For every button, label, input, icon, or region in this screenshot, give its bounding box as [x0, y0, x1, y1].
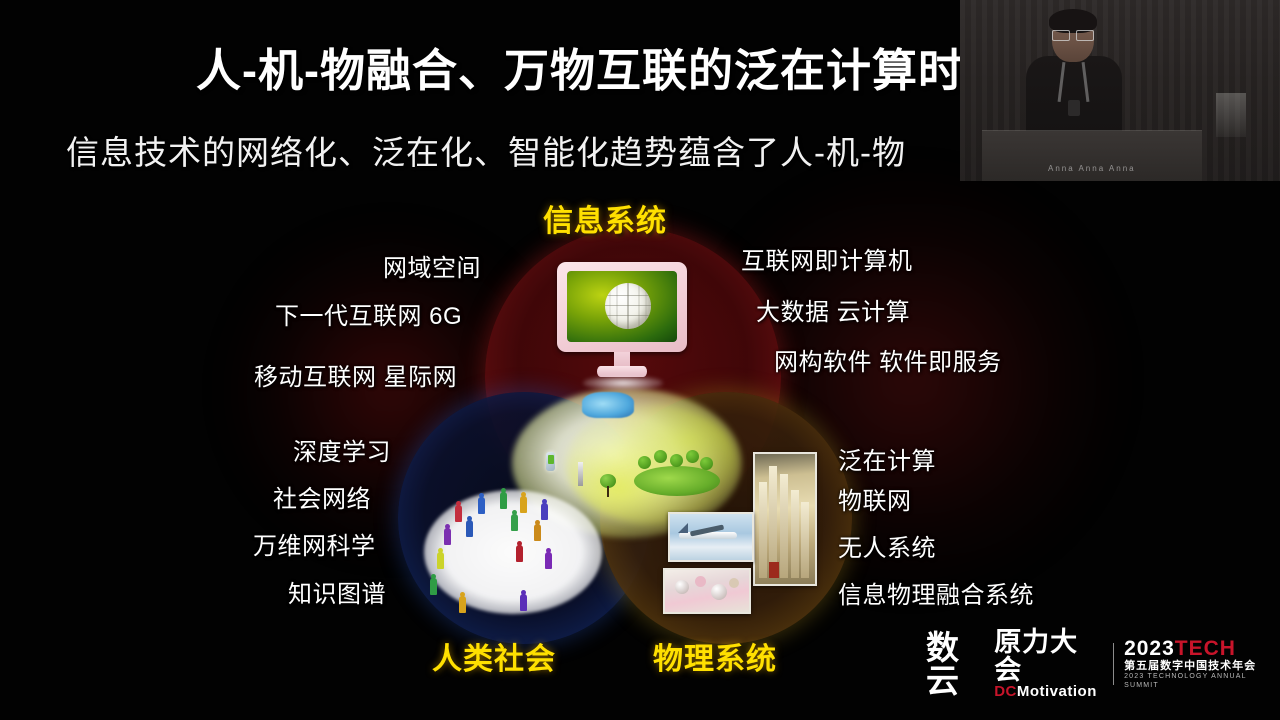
logo-summit-block: 2023TECH 第五届数字中国技术年会 2023 TECHNOLOGY ANN… [1124, 638, 1280, 690]
person-figure [520, 594, 527, 611]
person-figure [459, 596, 466, 613]
venn-label-physical-system: 物理系统 [653, 634, 777, 678]
monitor-bezel [557, 262, 687, 352]
podium-side-panel [1216, 93, 1246, 137]
keyword-bottom-left-2: 社会网络 [273, 479, 371, 514]
logo-subtitle-en: 2023 TECHNOLOGY ANNUAL SUMMIT [1124, 673, 1280, 690]
person-figure [516, 545, 523, 562]
keyword-top-left-2: 下一代互联网 6G [275, 296, 462, 331]
logo-year-line: 2023TECH [1124, 638, 1280, 660]
keyword-top-right-3: 网构软件 软件即服务 [774, 342, 1002, 377]
logo-subtitle-cn: 第五届数字中国技术年会 [1124, 660, 1280, 673]
logo-brand-cn: 数云 [926, 631, 990, 697]
keyword-top-left-1: 网域空间 [383, 248, 481, 283]
logo-brand-en: DCMotivation [994, 684, 1103, 700]
computer-monitor-icon [557, 262, 687, 382]
skyscraper-photo [753, 452, 817, 586]
tree-icon [600, 474, 616, 498]
podium [982, 131, 1202, 181]
person-figure [455, 505, 462, 522]
globe-icon [605, 283, 651, 329]
glasses-icon [1052, 30, 1094, 39]
logo-brand-cn2: 原力大会 [994, 628, 1103, 685]
logo-year: 2023 [1124, 637, 1175, 660]
airplane-photo [668, 512, 754, 562]
blue-city-illustration [582, 392, 634, 418]
venn-label-information-system: 信息系统 [543, 196, 667, 240]
signal-post-icon [578, 462, 583, 486]
venn-label-human-society: 人类社会 [432, 634, 556, 678]
venn-circle-information-system [485, 228, 781, 524]
person-figure [541, 503, 548, 520]
person-figure [500, 492, 507, 509]
monitor-screen [567, 271, 677, 342]
keyword-bottom-left-4: 知识图谱 [288, 574, 386, 609]
mobile-phone-icon [546, 452, 555, 471]
slide-subtitle: 信息技术的网络化、泛在化、智能化趋势蕴含了人-机-物 [66, 126, 906, 174]
badge-icon [1068, 100, 1080, 116]
monitor-reflection [583, 376, 663, 390]
logo-brand-stack: 原力大会 DCMotivation [994, 628, 1103, 700]
keyword-top-right-2: 大数据 云计算 [756, 292, 910, 327]
micro-devices-photo [663, 568, 751, 614]
speaker-video-overlay[interactable]: Anna Anna Anna [960, 0, 1280, 181]
venn-overlap-glow [512, 388, 742, 538]
monitor-neck [614, 352, 630, 368]
logo-divider [1113, 643, 1114, 685]
green-landscape-illustration [628, 448, 724, 500]
podium-text: Anna Anna Anna [1048, 164, 1136, 173]
keyword-bottom-right-2: 物联网 [838, 481, 912, 516]
keyword-bottom-left-3: 万维网科学 [253, 526, 376, 561]
monitor-base [597, 366, 647, 377]
person-figure [545, 552, 552, 569]
person-figure [478, 497, 485, 514]
social-network-disc [424, 490, 602, 614]
background-glow-right [700, 170, 1120, 590]
keyword-bottom-right-1: 泛在计算 [838, 441, 936, 476]
person-figure [534, 524, 541, 541]
logo-brand-en-prefix: DC [994, 683, 1017, 700]
person-figure [466, 520, 473, 537]
venn-circle-human-society [398, 392, 650, 644]
person-figure [430, 578, 437, 595]
person-figure [444, 528, 451, 545]
overlap-swirl [566, 404, 738, 524]
person-figure [437, 552, 444, 569]
logo-brand-en-word: Motivation [1017, 683, 1097, 700]
keyword-top-left-3: 移动互联网 星际网 [254, 357, 457, 392]
slide-stage: 人-机-物融合、万物互联的泛在计算时代 信息技术的网络化、泛在化、智能化趋势蕴含… [0, 0, 1280, 720]
keyword-bottom-right-3: 无人系统 [838, 528, 936, 563]
person-figure [520, 496, 527, 513]
slide-title: 人-机-物融合、万物互联的泛在计算时代 [196, 34, 1010, 99]
logo-year-accent: TECH [1175, 637, 1236, 660]
venn-circle-physical-system [600, 392, 852, 644]
keyword-top-right-1: 互联网即计算机 [741, 241, 913, 276]
keyword-bottom-left-1: 深度学习 [293, 432, 391, 467]
conference-logo: 数云 原力大会 DCMotivation 2023TECH 第五届数字中国技术年… [926, 636, 1280, 692]
keyword-bottom-right-4: 信息物理融合系统 [838, 575, 1034, 610]
person-figure [511, 514, 518, 531]
